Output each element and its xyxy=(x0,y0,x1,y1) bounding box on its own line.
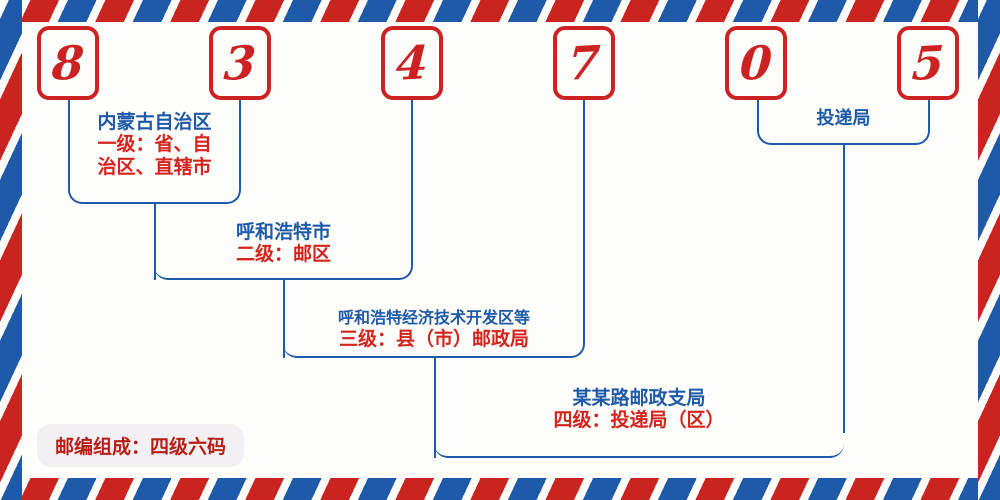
airmail-border-bottom xyxy=(0,478,1000,500)
label-level-1-sub1: 一级：省、自 xyxy=(68,134,241,156)
label-level-4: 某某路邮政支局 四级：投递局（区） xyxy=(434,388,844,433)
label-level-2-sub1: 二级：邮区 xyxy=(154,244,413,266)
stripe-pattern-top xyxy=(0,0,1000,22)
digit-box-4: 7 xyxy=(553,26,615,100)
label-level-1-title: 内蒙古自治区 xyxy=(68,112,241,134)
label-level-3-sub1: 三级：县（市）邮政局 xyxy=(283,329,585,351)
label-level-4-sub1: 四级：投递局（区） xyxy=(434,410,844,432)
digit-box-5: 0 xyxy=(725,26,787,100)
digit-glyph-6: 5 xyxy=(911,39,946,87)
digit-box-2: 3 xyxy=(209,26,271,100)
label-level-4-title: 某某路邮政支局 xyxy=(434,388,844,410)
label-delivery-office: 投递局 xyxy=(757,108,930,129)
label-level-3: 呼和浩特经济技术开发区等 三级：县（市）邮政局 xyxy=(283,310,585,351)
airmail-border-left xyxy=(0,0,22,500)
label-level-1-sub2: 治区、直辖市 xyxy=(68,157,241,179)
label-delivery-office-title: 投递局 xyxy=(757,108,930,129)
stripe-pattern-bottom xyxy=(0,478,1000,500)
digit-glyph-4: 7 xyxy=(567,39,602,87)
digit-glyph-1: 8 xyxy=(51,39,86,87)
stripe-pattern-left xyxy=(0,0,22,500)
label-level-1: 内蒙古自治区 一级：省、自 治区、直辖市 xyxy=(68,112,241,179)
label-level-3-title: 呼和浩特经济技术开发区等 xyxy=(283,310,585,329)
label-level-2: 呼和浩特市 二级：邮区 xyxy=(154,222,413,267)
digit-box-1: 8 xyxy=(37,26,99,100)
digit-box-6: 5 xyxy=(897,26,959,100)
airmail-border-top xyxy=(0,0,1000,22)
label-level-2-title: 呼和浩特市 xyxy=(154,222,413,244)
envelope-diagram: 8 3 4 7 0 5 内蒙古自治区 一级：省、自 治区、直辖市 呼和浩特市 二… xyxy=(0,0,1000,500)
digit-glyph-5: 0 xyxy=(739,39,774,87)
stripe-pattern-right xyxy=(978,0,1000,500)
digit-glyph-3: 4 xyxy=(395,39,430,87)
footer-badge: 邮编组成：四级六码 xyxy=(37,424,244,467)
airmail-border-right xyxy=(978,0,1000,500)
digit-box-3: 4 xyxy=(381,26,443,100)
digit-glyph-2: 3 xyxy=(223,39,258,87)
